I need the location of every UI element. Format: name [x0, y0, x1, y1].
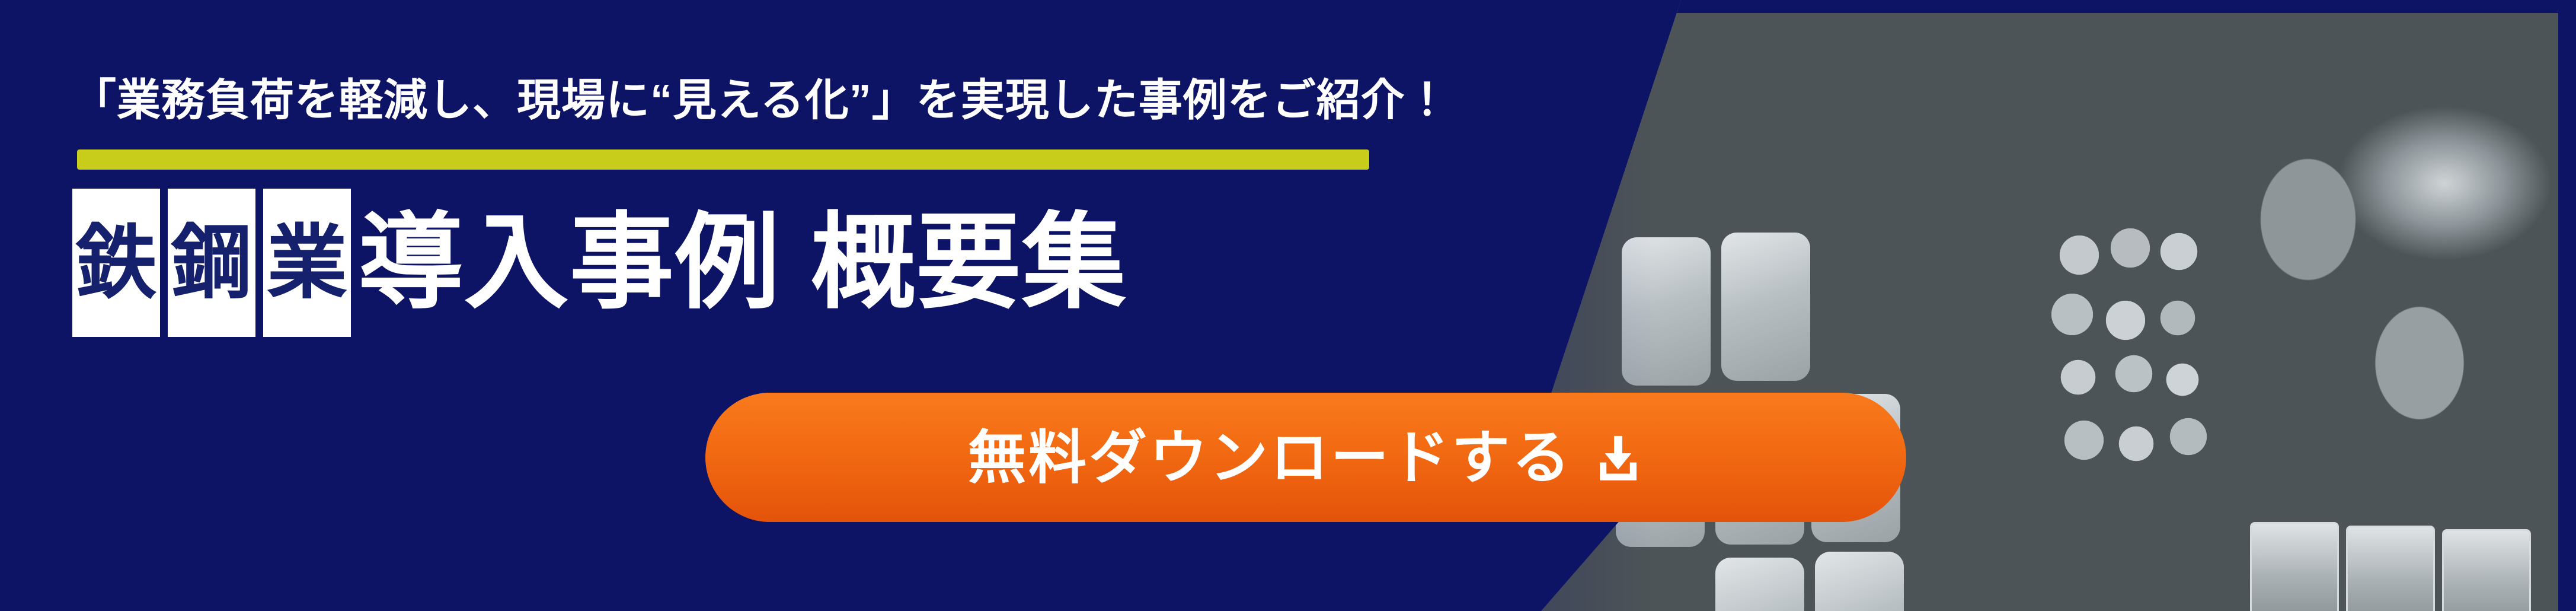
free-download-button[interactable]: 無料ダウンロードする	[705, 393, 1906, 522]
title-boxed-char-1: 鉄	[72, 189, 160, 337]
title-main-text: 導入事例 概要集	[359, 211, 1127, 315]
eyebrow-headline: 「業務負荷を軽減し、現場に“見える化”」を実現した事例をご紹介！	[72, 78, 1450, 122]
page-title: 鉄 鋼 業 導入事例 概要集	[72, 189, 1127, 337]
photo-top-border	[1479, 0, 2576, 13]
download-icon	[1593, 432, 1644, 483]
eyebrow-highlight-underline	[77, 149, 1369, 170]
title-boxed-char-3: 業	[263, 189, 351, 337]
steel-industry-case-study-banner: 「業務負荷を軽減し、現場に“見える化”」を実現した事例をご紹介！ 鉄 鋼 業 導…	[0, 0, 2576, 611]
free-download-button-label: 無料ダウンロードする	[968, 428, 1573, 486]
title-boxed-char-2: 鋼	[168, 189, 255, 337]
photo-right-border	[2558, 0, 2576, 611]
